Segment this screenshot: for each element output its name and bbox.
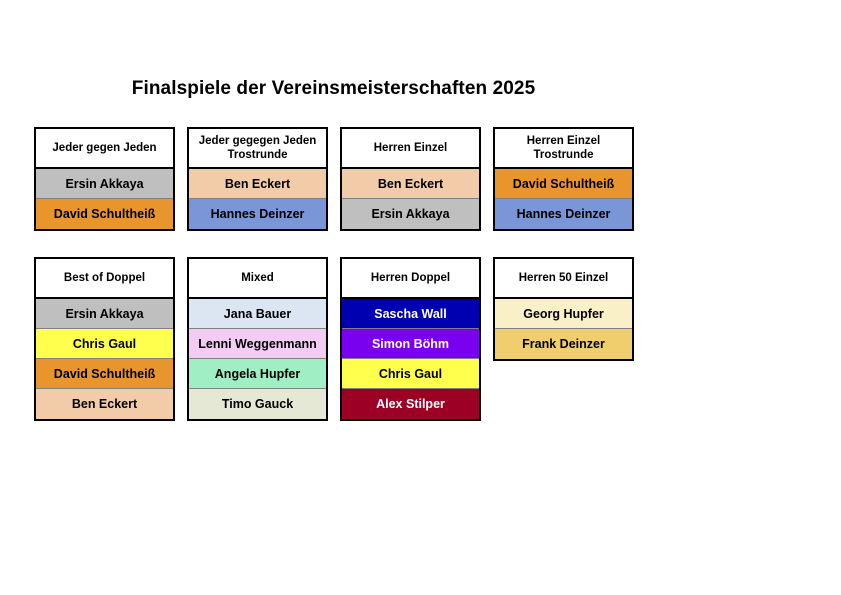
player-row: Hannes Deinzer (189, 199, 326, 229)
player-row: Ersin Akkaya (36, 169, 173, 199)
player-row: Lenni Weggenmann (189, 329, 326, 359)
player-row: Ben Eckert (36, 389, 173, 419)
player-row: Georg Hupfer (495, 299, 632, 329)
bracket-header-jeder-gegegen-jeden-trostrunde: Jeder gegegen Jeden Trostrunde (189, 129, 326, 169)
bracket-header-jeder-gegen-jeden: Jeder gegen Jeden (36, 129, 173, 169)
player-row: Alex Stilper (342, 389, 479, 419)
player-row: Ersin Akkaya (342, 199, 479, 229)
player-row: David Schultheiß (36, 359, 173, 389)
player-row: Sascha Wall (342, 299, 479, 329)
page-root: Finalspiele der Vereinsmeisterschaften 2… (0, 0, 841, 595)
bracket-header-herren-einzel: Herren Einzel (342, 129, 479, 169)
bracket-header-best-of-doppel: Best of Doppel (36, 259, 173, 299)
bracket-table-jeder-gegegen-jeden-trostrunde: Jeder gegegen Jeden TrostrundeBen Eckert… (187, 127, 328, 231)
table-group-row-two: Best of DoppelErsin AkkayaChris GaulDavi… (34, 257, 654, 421)
results-board: Jeder gegen JedenErsin AkkayaDavid Schul… (34, 127, 654, 421)
player-row: Ersin Akkaya (36, 299, 173, 329)
bracket-header-herren-einzel-trostrunde: Herren Einzel Trostrunde (495, 129, 632, 169)
bracket-table-herren-50-einzel: Herren 50 EinzelGeorg HupferFrank Deinze… (493, 257, 634, 361)
player-row: Hannes Deinzer (495, 199, 632, 229)
player-row: Chris Gaul (36, 329, 173, 359)
player-row: Ben Eckert (342, 169, 479, 199)
player-row: Jana Bauer (189, 299, 326, 329)
bracket-header-herren-doppel: Herren Doppel (342, 259, 479, 299)
bracket-table-mixed: MixedJana BauerLenni WeggenmannAngela Hu… (187, 257, 328, 421)
page-title: Finalspiele der Vereinsmeisterschaften 2… (0, 78, 667, 100)
player-row: Timo Gauck (189, 389, 326, 419)
bracket-table-herren-einzel-trostrunde: Herren Einzel TrostrundeDavid Schultheiß… (493, 127, 634, 231)
bracket-header-mixed: Mixed (189, 259, 326, 299)
player-row: Frank Deinzer (495, 329, 632, 359)
player-row: David Schultheiß (36, 199, 173, 229)
bracket-table-jeder-gegen-jeden: Jeder gegen JedenErsin AkkayaDavid Schul… (34, 127, 175, 231)
table-group-row-one: Jeder gegen JedenErsin AkkayaDavid Schul… (34, 127, 654, 231)
bracket-table-herren-einzel: Herren EinzelBen EckertErsin Akkaya (340, 127, 481, 231)
bracket-header-herren-50-einzel: Herren 50 Einzel (495, 259, 632, 299)
player-row: Angela Hupfer (189, 359, 326, 389)
player-row: Ben Eckert (189, 169, 326, 199)
player-row: Simon Böhm (342, 329, 479, 359)
player-row: David Schultheiß (495, 169, 632, 199)
bracket-table-best-of-doppel: Best of DoppelErsin AkkayaChris GaulDavi… (34, 257, 175, 421)
player-row: Chris Gaul (342, 359, 479, 389)
bracket-table-herren-doppel: Herren DoppelSascha WallSimon BöhmChris … (340, 257, 481, 421)
